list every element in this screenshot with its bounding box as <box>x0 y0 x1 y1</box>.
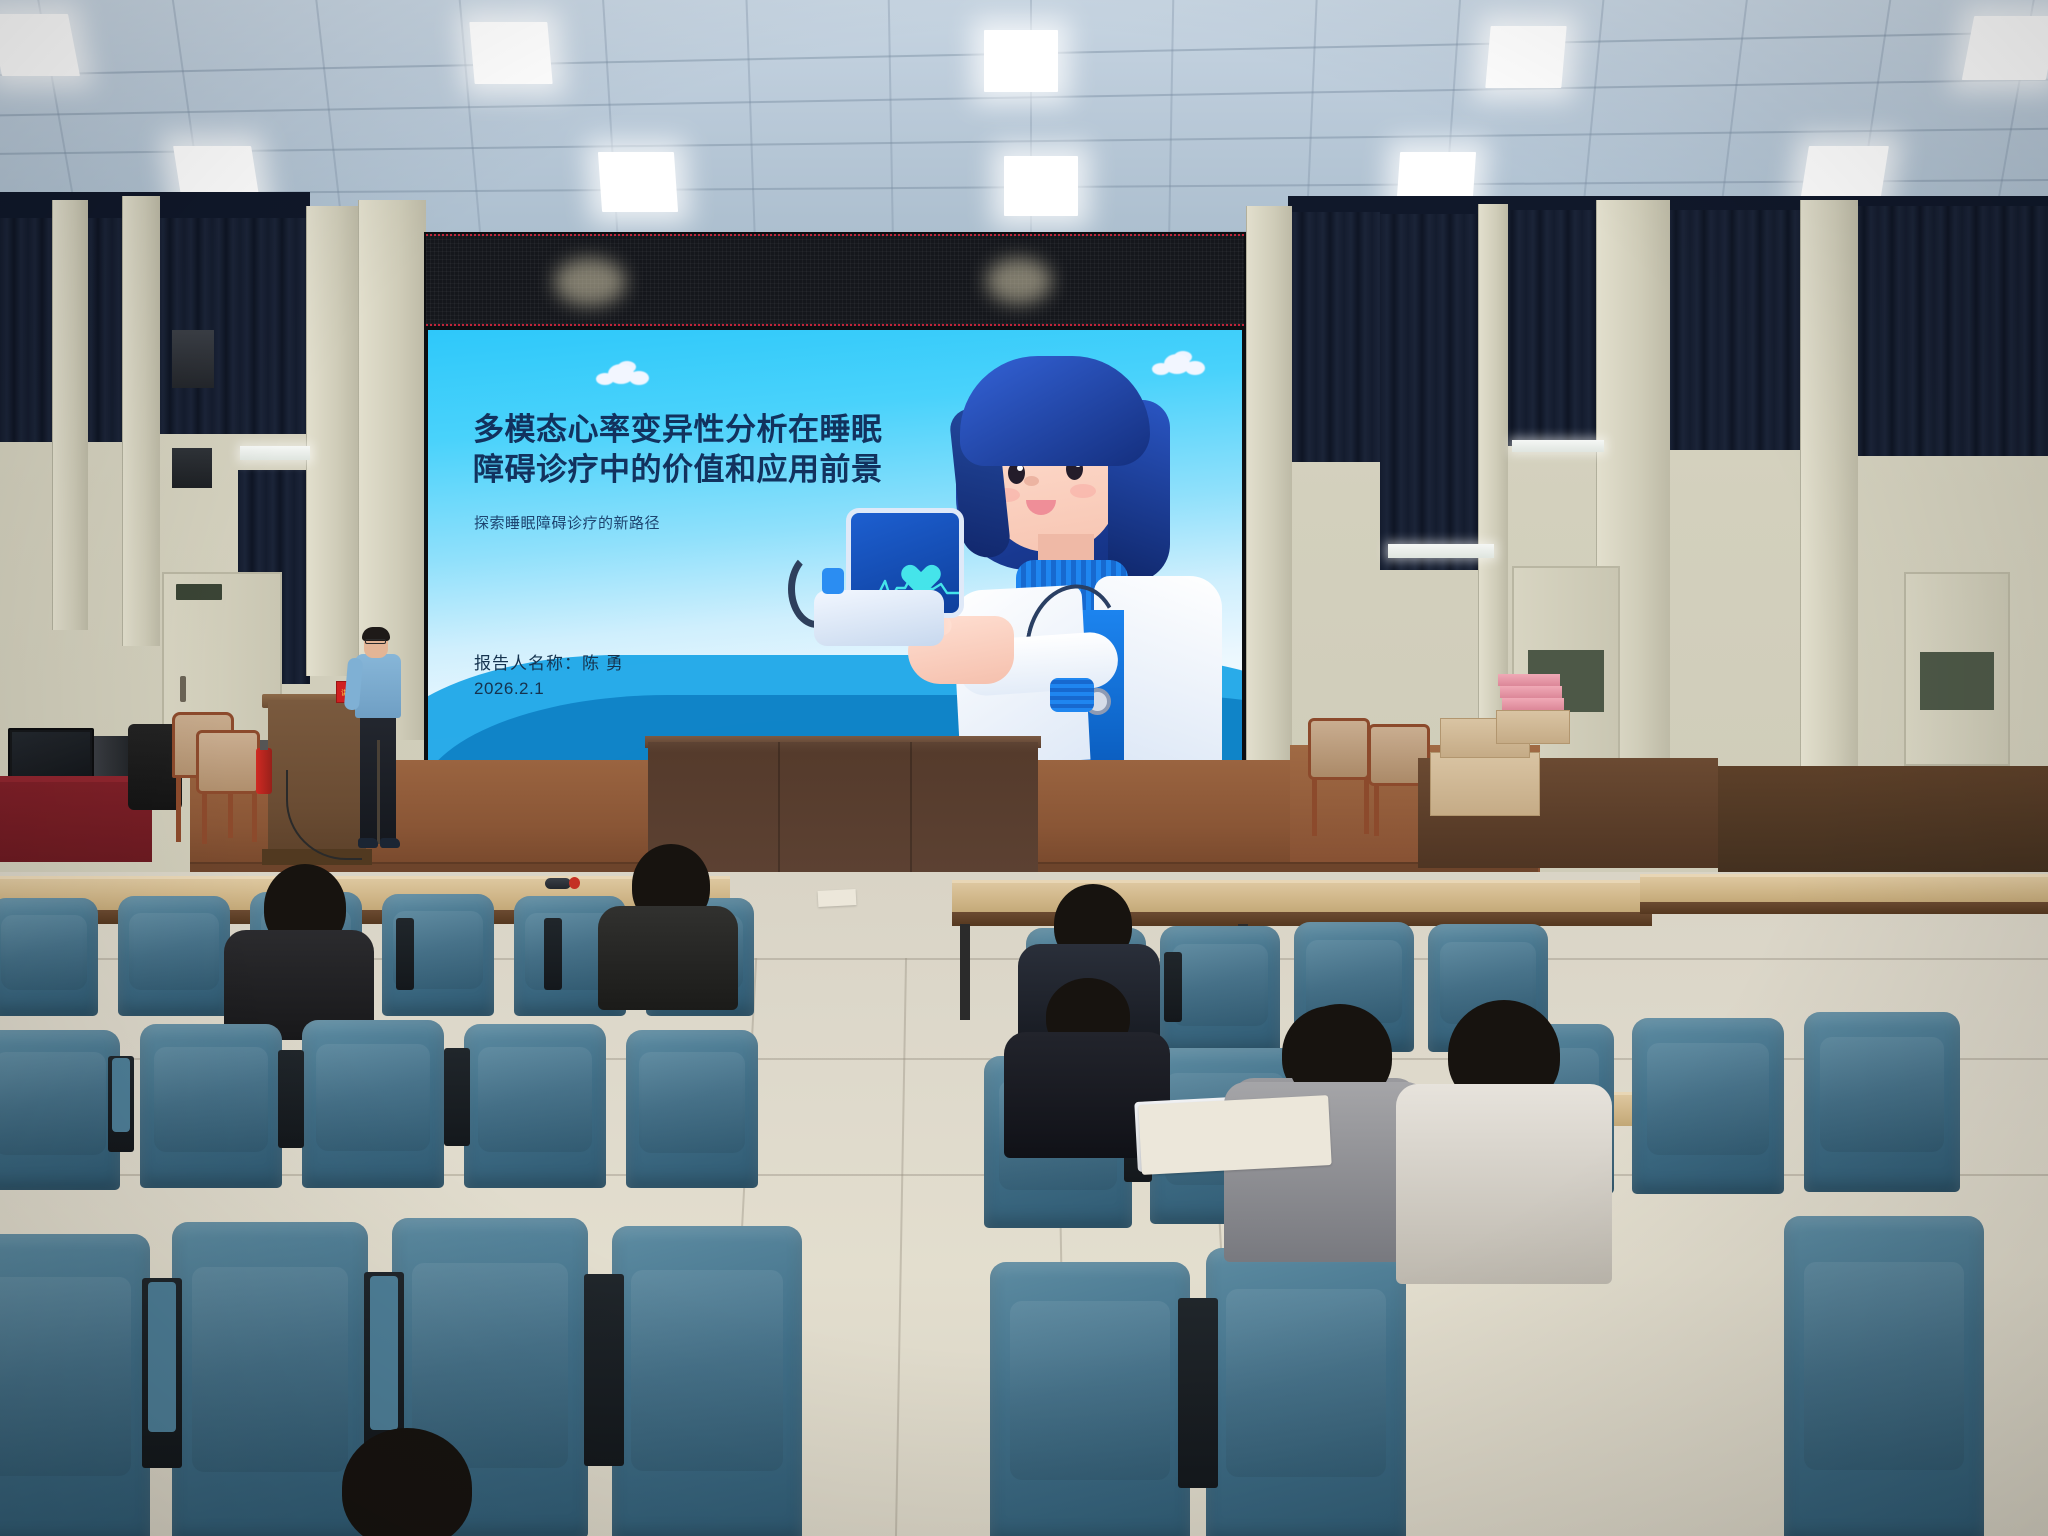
wall-pilaster <box>1246 206 1292 766</box>
window-light-right <box>1388 544 1494 558</box>
seat-armrest <box>544 918 562 990</box>
slide-date: 2026.2.1 <box>474 679 544 699</box>
ceiling-light <box>1004 156 1078 216</box>
slide-subtitle: 探索睡眠障碍诊疗的新路径 <box>474 512 660 533</box>
auditorium-seat[interactable] <box>1206 1248 1406 1536</box>
glasses-icon <box>365 639 386 644</box>
auditorium-seat[interactable] <box>0 1030 120 1190</box>
seat-armrest <box>278 1050 304 1148</box>
auditorium-seat[interactable] <box>1804 1012 1960 1192</box>
curtain-right-3 <box>1498 210 1608 446</box>
pink-box <box>1502 698 1564 710</box>
curtain-right-5 <box>1850 206 2048 456</box>
seat-armrest <box>584 1274 624 1466</box>
auditorium-seat[interactable] <box>172 1222 368 1536</box>
auditorium-seat[interactable] <box>464 1024 606 1188</box>
monitor-screen <box>12 732 90 776</box>
led-ticker-strip <box>426 234 1244 326</box>
auditorium-seat[interactable] <box>0 898 98 1016</box>
auditorium-seat[interactable] <box>302 1020 444 1188</box>
chair-leg <box>176 776 181 842</box>
fire-extinguisher <box>256 748 272 794</box>
microphone[interactable] <box>545 876 579 890</box>
auditorium-seat[interactable] <box>612 1226 802 1536</box>
table-leg <box>960 924 970 1020</box>
chair-leg <box>1374 784 1379 836</box>
window-light-left <box>240 446 310 460</box>
wall-speaker <box>172 448 212 488</box>
paper-note <box>818 889 857 907</box>
curtain-left-2 <box>156 214 306 434</box>
presentation-slide: 多模态心率变异性分析在睡眠 障碍诊疗中的价值和应用前景 探索睡眠障碍诊疗的新路径… <box>428 330 1242 760</box>
seat-armrest-pad <box>112 1058 130 1132</box>
ceiling-light <box>1485 26 1566 88</box>
wall-pilaster <box>306 206 358 676</box>
seat-armrest-pad <box>148 1282 176 1432</box>
door-sign-left <box>176 584 222 600</box>
cardboard-box <box>1496 710 1570 744</box>
auditorium-seat[interactable] <box>140 1024 282 1188</box>
auditorium-seat[interactable] <box>1632 1018 1784 1194</box>
wall-pilaster <box>122 196 160 646</box>
stage-desk <box>648 742 1038 872</box>
ecg-monitor-device <box>794 508 966 656</box>
chair-leg <box>1312 778 1317 836</box>
ceiling-light <box>598 152 678 212</box>
wall-pilaster <box>1800 200 1858 770</box>
door-window-right-2 <box>1920 652 1994 710</box>
seat-armrest <box>444 1048 470 1146</box>
chair-leg <box>252 792 257 842</box>
pink-box <box>1498 674 1560 686</box>
auditorium-seat[interactable] <box>0 1234 150 1536</box>
seat-armrest <box>1178 1298 1218 1488</box>
curtain-right-4 <box>1662 210 1808 450</box>
slide-title-line-1: 多模态心率变异性分析在睡眠 <box>473 410 943 450</box>
cloud-icon <box>608 364 634 384</box>
chair-leg <box>1364 778 1369 834</box>
ceiling-light <box>469 22 552 84</box>
ceiling-light <box>984 30 1058 92</box>
paper-sheet <box>1138 1095 1331 1175</box>
window-light-right <box>1512 440 1604 452</box>
slide-title: 多模态心率变异性分析在睡眠 障碍诊疗中的价值和应用前景 <box>473 410 943 489</box>
auditorium-seat[interactable] <box>990 1262 1190 1536</box>
wall-pilaster <box>52 200 88 630</box>
pink-box <box>1500 686 1562 698</box>
mic-windscreen <box>569 877 580 889</box>
cardboard-box <box>1430 752 1540 816</box>
chair-leg <box>202 792 207 844</box>
auditorium-seat[interactable] <box>626 1030 758 1188</box>
audience-table-front <box>1640 902 2048 914</box>
slide-presenter-name: 报告人名称：陈 勇 <box>474 649 624 674</box>
storage-cabinet <box>1718 766 2048 872</box>
audience-table <box>1640 874 2048 904</box>
seat-armrest-pad <box>370 1276 398 1430</box>
slide-title-line-2: 障碍诊疗中的价值和应用前景 <box>473 450 943 490</box>
wooden-chair <box>1308 718 1370 780</box>
ceiling-light <box>0 14 80 76</box>
wooden-chair <box>196 730 260 794</box>
door-handle-left[interactable] <box>180 676 186 702</box>
auditorium-seat[interactable] <box>1784 1216 1984 1536</box>
seat-armrest <box>1164 952 1182 1022</box>
wall-speaker <box>172 330 214 388</box>
curtain-right-1 <box>1288 212 1380 462</box>
ceiling-light <box>1962 16 2048 80</box>
lecture-hall-photo: 多模态心率变异性分析在睡眠 障碍诊疗中的价值和应用前景 探索睡眠障碍诊疗的新路径… <box>0 0 2048 1536</box>
auditorium-seat[interactable] <box>118 896 230 1016</box>
seat-armrest <box>396 918 414 990</box>
